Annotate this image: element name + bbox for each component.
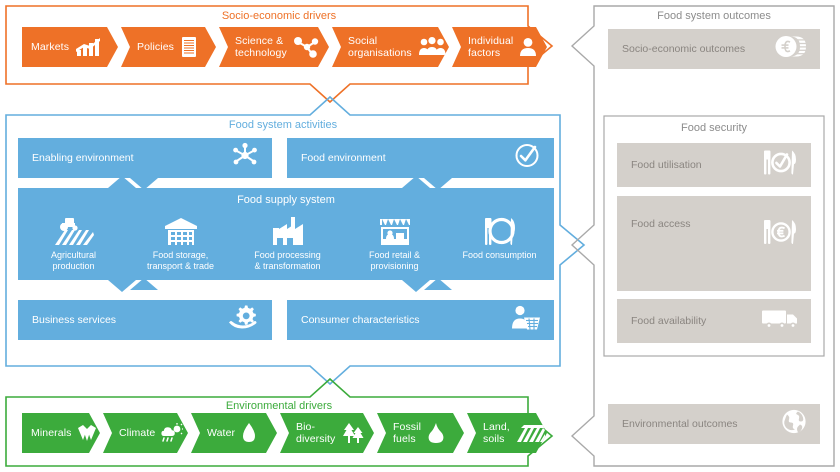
driver-chip-social-organisations-label: Social organisations	[348, 35, 412, 59]
env-chip-land-soils-label: Land, soils	[483, 421, 510, 445]
outcome-food-utilisation-label: Food utilisation	[631, 159, 702, 171]
mineral-gem-icon	[77, 424, 97, 442]
factory-icon	[271, 212, 305, 246]
activity-box-consumer-characteristics-label: Consumer characteristics	[301, 314, 419, 326]
supply-stage-food-retail-label: Food retail & provisioning	[369, 250, 420, 271]
driver-chip-policies[interactable]: Policies	[121, 27, 216, 67]
activity-box-business-services[interactable]: Business services	[18, 300, 272, 340]
coins-euro-icon	[774, 34, 808, 65]
supply-stage-food-retail[interactable]: Food retail & provisioning	[341, 212, 448, 271]
food-security-title: Food security	[604, 122, 824, 134]
supply-stage-agricultural-production[interactable]: Agricultural production	[20, 212, 127, 271]
supply-stage-food-storage-label: Food storage, transport & trade	[147, 250, 214, 271]
outcome-socio-economic[interactable]: Socio-economic outcomes	[608, 29, 820, 69]
delivery-truck-icon	[761, 307, 799, 336]
tractor-field-icon	[53, 212, 95, 246]
hub-spokes-icon	[232, 143, 258, 174]
env-chip-minerals-label: Minerals	[31, 427, 71, 439]
supply-stage-food-consumption-label: Food consumption	[462, 250, 536, 261]
outcome-environmental-label: Environmental outcomes	[622, 418, 738, 430]
supply-stage-food-storage[interactable]: Food storage, transport & trade	[127, 212, 234, 271]
diagram-canvas: Socio-economic drivers Markets Policies	[0, 0, 840, 472]
driver-chip-policies-label: Policies	[137, 41, 174, 53]
trees-icon	[341, 422, 365, 444]
env-chip-climate-label: Climate	[119, 427, 155, 439]
people-group-icon	[418, 37, 446, 57]
activity-box-consumer-characteristics[interactable]: Consumer characteristics	[287, 300, 554, 340]
supply-stage-food-processing[interactable]: Food processing & transformation	[234, 212, 341, 271]
env-chip-biodiversity[interactable]: Bio- diversity	[280, 413, 374, 453]
outcome-socio-economic-label: Socio-economic outcomes	[622, 43, 745, 55]
env-chip-biodiversity-label: Bio- diversity	[296, 421, 335, 445]
food-system-outcomes-title: Food system outcomes	[594, 10, 834, 22]
shop-stall-icon	[378, 212, 412, 246]
outcome-food-utilisation[interactable]: Food utilisation	[617, 143, 811, 187]
driver-chip-markets[interactable]: Markets	[22, 27, 118, 67]
driver-chip-markets-label: Markets	[31, 41, 69, 53]
shopper-basket-icon	[510, 305, 540, 336]
globe-icon	[780, 408, 808, 441]
supply-stage-agricultural-production-label: Agricultural production	[51, 250, 96, 271]
fork-check-knife-icon	[763, 149, 799, 182]
driver-chip-science-technology-label: Science & technology	[235, 35, 287, 59]
plough-field-icon	[516, 423, 546, 443]
person-icon	[519, 37, 537, 57]
water-drop-icon	[241, 422, 257, 444]
env-chip-minerals[interactable]: Minerals	[22, 413, 100, 453]
flame-icon	[428, 422, 444, 444]
network-nodes-icon	[293, 36, 319, 58]
food-system-activities-title: Food system activities	[6, 119, 560, 131]
outcome-environmental[interactable]: Environmental outcomes	[608, 404, 820, 444]
supply-stage-food-consumption[interactable]: Food consumption	[446, 212, 553, 261]
supply-stage-food-processing-label: Food processing & transformation	[254, 250, 321, 271]
document-lines-icon	[180, 36, 198, 58]
food-supply-system-caption: Food supply system	[18, 194, 554, 206]
gear-in-hand-icon	[228, 305, 258, 336]
outcome-food-availability-label: Food availability	[631, 315, 706, 327]
outcome-food-access-label: Food access	[631, 218, 691, 230]
env-chip-water[interactable]: Water	[191, 413, 277, 453]
fork-plate-knife-icon	[483, 212, 517, 246]
fork-euro-knife-icon	[763, 218, 799, 251]
food-supply-system-band[interactable]: Food supply system Agricultural producti…	[18, 188, 554, 280]
driver-chip-individual-factors[interactable]: Individual factors	[452, 27, 547, 67]
environmental-drivers-title: Environmental drivers	[6, 400, 552, 412]
bar-chart-growth-icon	[75, 37, 101, 57]
check-circle-icon	[514, 143, 540, 174]
socio-economic-drivers-title: Socio-economic drivers	[6, 10, 552, 22]
driver-chip-individual-factors-label: Individual factors	[468, 35, 513, 59]
activity-box-business-services-label: Business services	[32, 314, 116, 326]
activity-box-enabling-environment[interactable]: Enabling environment	[18, 138, 272, 178]
sun-cloud-rain-icon	[161, 423, 183, 443]
outcome-food-availability[interactable]: Food availability	[617, 299, 811, 343]
env-chip-fossil-fuels[interactable]: Fossil fuels	[377, 413, 464, 453]
activity-box-food-environment-label: Food environment	[301, 152, 386, 164]
outcome-food-access[interactable]: Food access	[617, 196, 811, 291]
driver-chip-science-technology[interactable]: Science & technology	[219, 27, 329, 67]
env-chip-climate[interactable]: Climate	[103, 413, 188, 453]
env-chip-land-soils[interactable]: Land, soils	[467, 413, 547, 453]
env-chip-fossil-fuels-label: Fossil fuels	[393, 421, 421, 445]
env-chip-water-label: Water	[207, 427, 235, 439]
driver-chip-social-organisations[interactable]: Social organisations	[332, 27, 449, 67]
activity-box-enabling-environment-label: Enabling environment	[32, 152, 134, 164]
warehouse-icon	[164, 212, 198, 246]
activity-box-food-environment[interactable]: Food environment	[287, 138, 554, 178]
